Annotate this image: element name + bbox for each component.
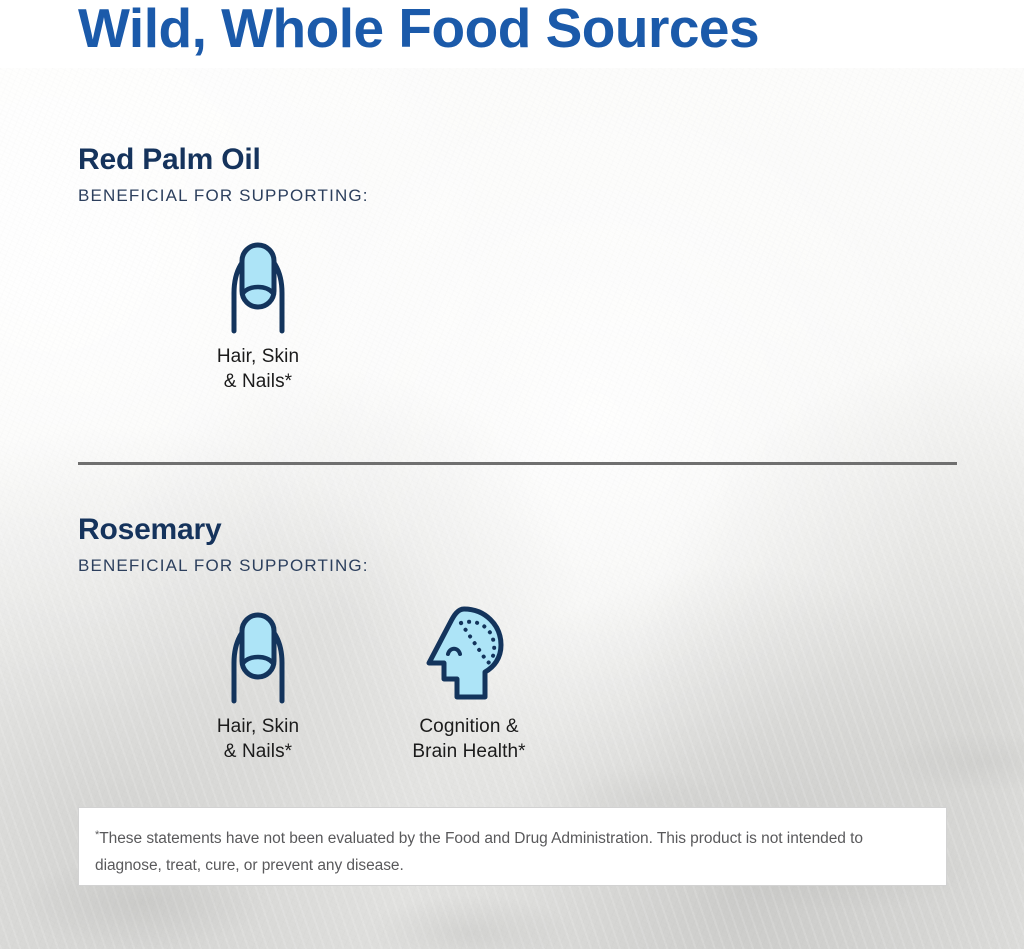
section-red-palm-oil: Red Palm Oil BENEFICIAL FOR SUPPORTING: …	[78, 142, 958, 400]
benefit-label: Cognition & Brain Health*	[369, 714, 569, 764]
fingernail-icon	[158, 230, 358, 336]
section-divider	[78, 462, 957, 465]
disclaimer-box: *These statements have not been evaluate…	[78, 807, 947, 886]
benefit-label: Hair, Skin & Nails*	[158, 714, 358, 764]
benefit-row: Hair, Skin & Nails*	[78, 230, 958, 400]
section-title: Rosemary	[78, 512, 958, 548]
marketing-panel: Wild, Whole Food Sources Red Palm Oil BE…	[0, 0, 1024, 949]
disclaimer-text: *These statements have not been evaluate…	[95, 822, 933, 879]
page-title: Wild, Whole Food Sources	[78, 0, 759, 62]
benefit-hair-skin-nails: Hair, Skin & Nails*	[158, 230, 358, 394]
section-subtitle: BENEFICIAL FOR SUPPORTING:	[78, 184, 958, 208]
disclaimer-body: These statements have not been evaluated…	[95, 830, 863, 874]
benefit-label: Hair, Skin & Nails*	[158, 344, 358, 394]
section-title: Red Palm Oil	[78, 142, 958, 178]
benefit-row: Hair, Skin & Nails* Cognition & Brain He…	[78, 600, 958, 770]
section-subtitle: BENEFICIAL FOR SUPPORTING:	[78, 554, 958, 578]
section-rosemary: Rosemary BENEFICIAL FOR SUPPORTING: Hair…	[78, 512, 958, 770]
benefit-hair-skin-nails: Hair, Skin & Nails*	[158, 600, 358, 764]
head-brain-icon	[369, 600, 569, 706]
benefit-cognition-brain-health: Cognition & Brain Health*	[369, 600, 569, 764]
fingernail-icon	[158, 600, 358, 706]
header-band: Wild, Whole Food Sources	[0, 0, 1024, 68]
